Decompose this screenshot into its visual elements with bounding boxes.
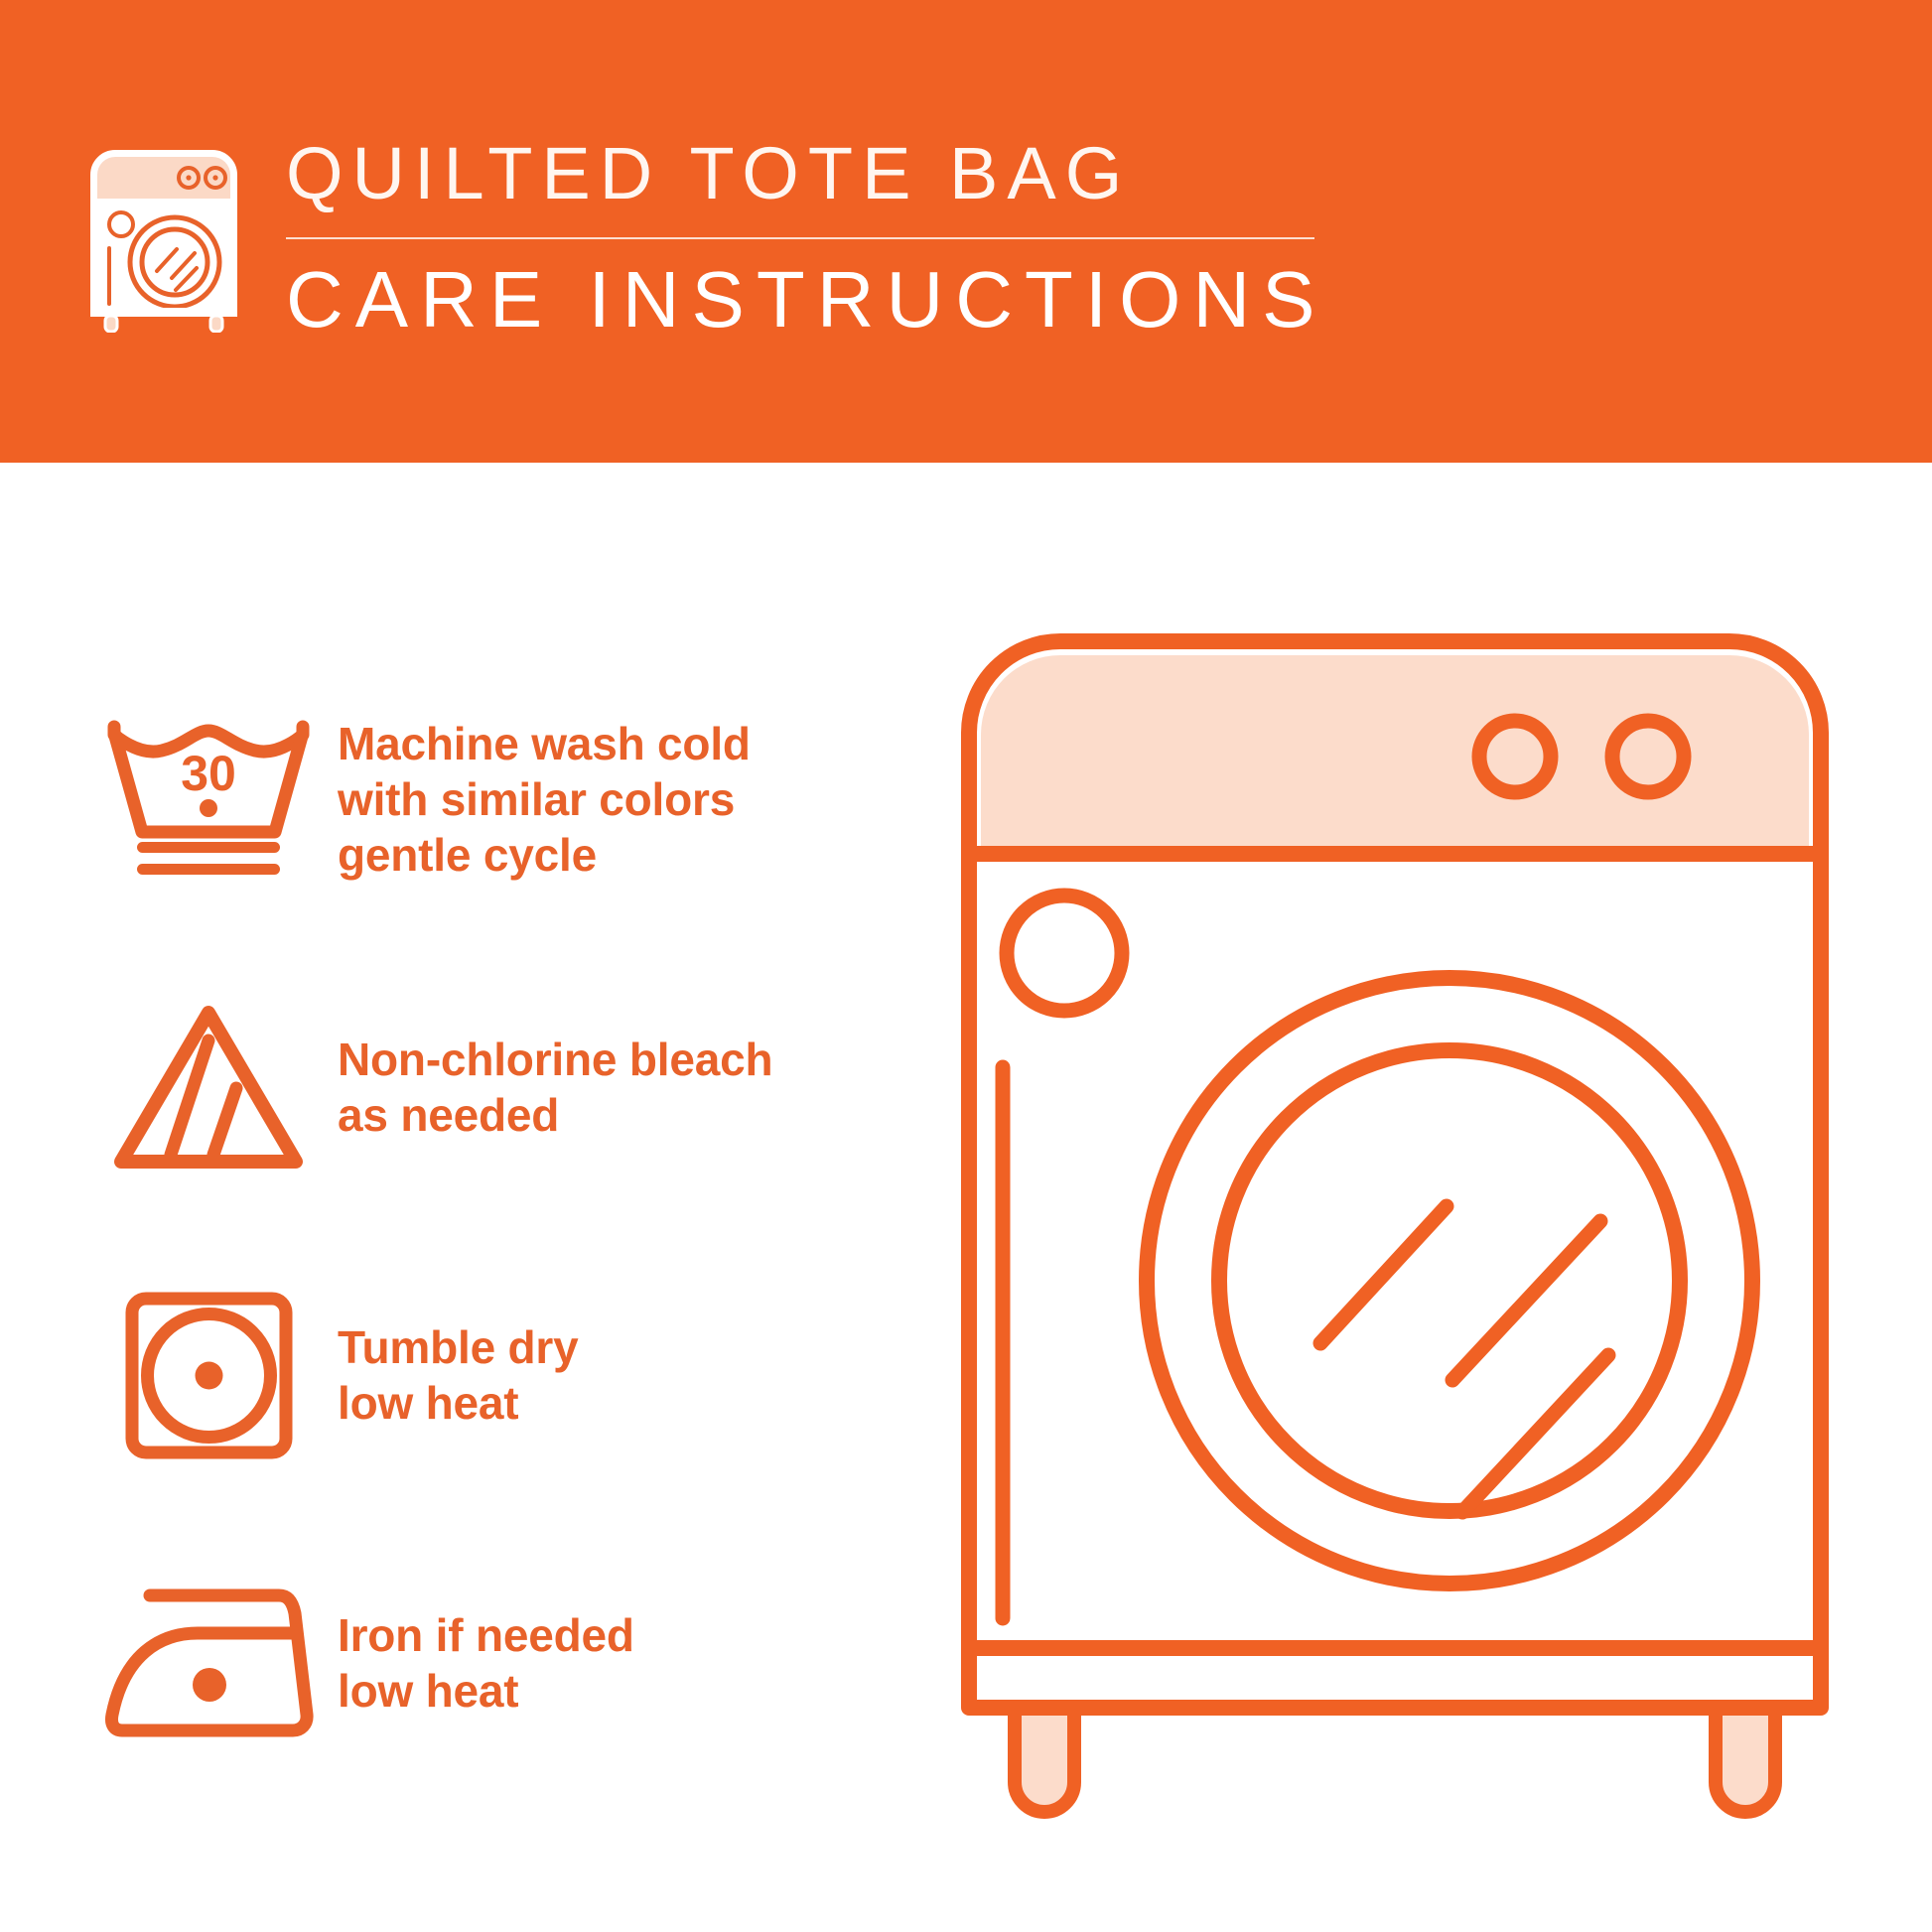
list-item: Non-chlorine bleach as needed (79, 943, 933, 1231)
care-label: Tumble dry low heat (338, 1319, 579, 1431)
care-instructions-list: 30 Machine wash cold with similar colors… (79, 655, 933, 1807)
wash-tub-30-gentle-icon: 30 (79, 713, 338, 887)
front-load-washing-machine-illustration (953, 625, 1876, 1866)
leg-right (1716, 1708, 1775, 1812)
list-item: Tumble dry low heat (79, 1231, 933, 1519)
care-label-line: low heat (338, 1665, 518, 1717)
care-label-line: gentle cycle (338, 829, 597, 881)
page-title-primary: QUILTED TOTE BAG (286, 137, 1327, 210)
care-label-line: Non-chlorine bleach (338, 1034, 772, 1085)
care-label: Non-chlorine bleach as needed (338, 1032, 772, 1143)
non-chlorine-bleach-triangle-icon (79, 1001, 338, 1174)
svg-text:30: 30 (181, 746, 236, 801)
care-label: Iron if needed low heat (338, 1607, 634, 1719)
care-label-line: with similar colors (338, 773, 735, 825)
header-title-block: QUILTED TOTE BAG CARE INSTRUCTIONS (286, 131, 1327, 340)
leg-left (1015, 1708, 1074, 1812)
list-item: Iron if needed low heat (79, 1519, 933, 1807)
title-divider (286, 237, 1314, 239)
iron-low-heat-icon (79, 1584, 338, 1742)
washing-machine-icon (79, 139, 248, 333)
care-label: Machine wash cold with similar colors ge… (338, 716, 751, 883)
page-title-secondary: CARE INSTRUCTIONS (286, 260, 1327, 340)
care-label-line: Iron if needed (338, 1609, 634, 1661)
care-label-line: low heat (338, 1377, 518, 1429)
list-item: 30 Machine wash cold with similar colors… (79, 655, 933, 943)
header-band: QUILTED TOTE BAG CARE INSTRUCTIONS (0, 0, 1932, 463)
care-label-line: as needed (338, 1089, 559, 1141)
header-content: QUILTED TOTE BAG CARE INSTRUCTIONS (79, 131, 1327, 340)
care-label-line: Tumble dry (338, 1321, 579, 1373)
care-label-line: Machine wash cold (338, 718, 751, 769)
tumble-dry-low-icon (79, 1289, 338, 1462)
